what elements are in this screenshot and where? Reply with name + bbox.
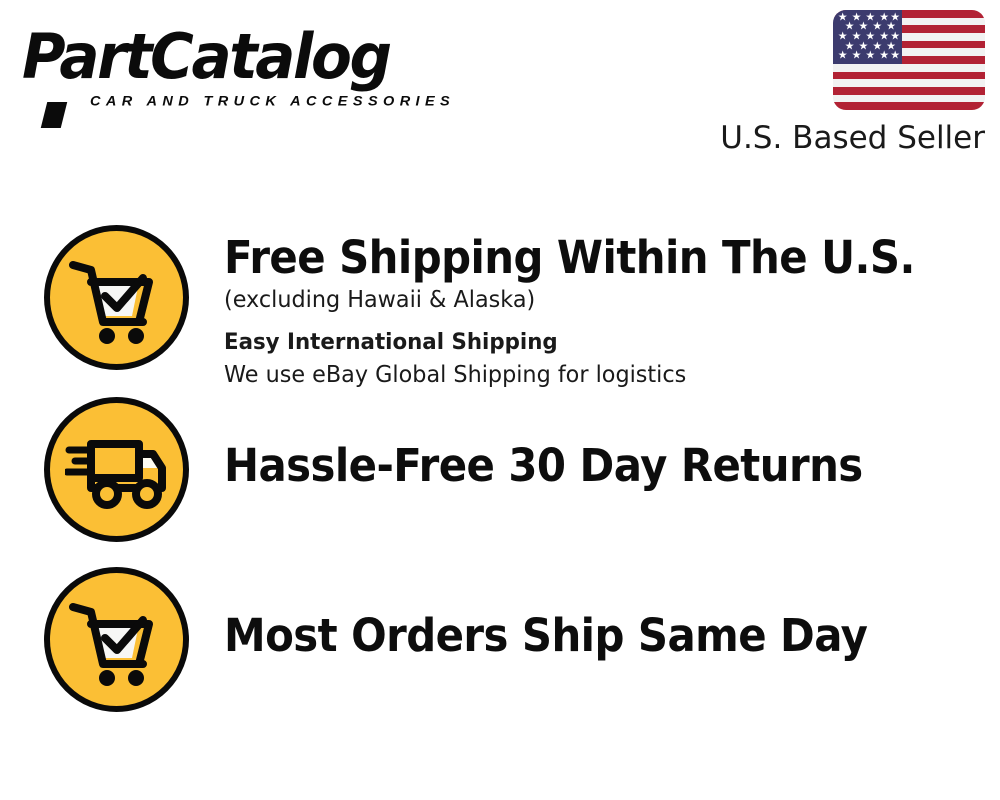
brand-logo: PartCatalog CAR AND TRUCK ACCESSORIES (22, 24, 492, 119)
flag-stars: ★ ★ ★ ★ ★ ★ ★ ★ ★ ★ ★ ★ ★ ★ ★ ★ ★ ★ ★ ★ (833, 10, 902, 64)
shopping-cart-check-icon (44, 225, 189, 370)
brand-tagline: CAR AND TRUCK ACCESSORIES (90, 94, 455, 109)
delivery-truck-icon (44, 397, 189, 542)
feature-row-same-day-ship: Most Orders Ship Same Day (0, 567, 1000, 712)
feature-row-returns: Hassle-Free 30 Day Returns (0, 397, 1000, 542)
us-based-seller-block: ★ ★ ★ ★ ★ ★ ★ ★ ★ ★ ★ ★ ★ ★ ★ ★ ★ ★ ★ ★ (715, 10, 985, 157)
feature-subtitle-exclusions: (excluding Hawaii & Alaska) (224, 284, 977, 317)
feature-text-block: Hassle-Free 30 Day Returns (189, 397, 1000, 492)
brand-wordmark: PartCatalog (22, 24, 390, 90)
logo-slash-mark (41, 102, 67, 128)
feature-title: Most Orders Ship Same Day (224, 609, 946, 662)
us-based-seller-label: U.S. Based Seller (715, 119, 985, 157)
shopping-cart-check-icon (44, 567, 189, 712)
feature-text-block: Free Shipping Within The U.S. (excluding… (189, 225, 1000, 392)
page-header: PartCatalog CAR AND TRUCK ACCESSORIES ★ … (0, 0, 1000, 180)
feature-subtitle-international: Easy International Shipping (224, 326, 977, 359)
feature-subtitle-logistics: We use eBay Global Shipping for logistic… (224, 359, 977, 392)
feature-text-block: Most Orders Ship Same Day (189, 567, 1000, 662)
feature-title: Free Shipping Within The U.S. (224, 231, 946, 284)
us-flag-icon: ★ ★ ★ ★ ★ ★ ★ ★ ★ ★ ★ ★ ★ ★ ★ ★ ★ ★ ★ ★ (833, 10, 985, 110)
feature-title: Hassle-Free 30 Day Returns (224, 439, 946, 492)
feature-row-free-shipping: Free Shipping Within The U.S. (excluding… (0, 225, 1000, 392)
